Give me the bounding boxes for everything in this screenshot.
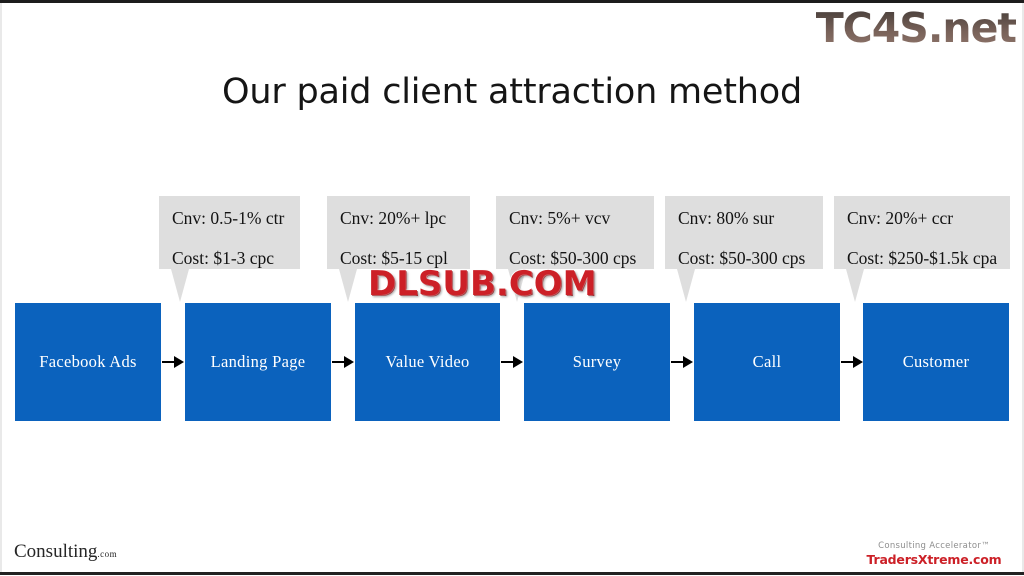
- slide-top-border: [0, 0, 1024, 3]
- callout-conversion-text: Cnv: 20%+ lpc: [340, 210, 470, 228]
- flow-step-3[interactable]: Value Video: [355, 303, 500, 421]
- consulting-accelerator-label: Consulting Accelerator™: [854, 541, 1014, 551]
- slide-bottom-border: [0, 572, 1024, 575]
- callout-cost-text: Cost: $50-300 cps: [678, 250, 823, 268]
- flow-arrow-1: [162, 356, 184, 368]
- flow-arrow-4: [671, 356, 693, 368]
- callout-1: Cnv: 0.5-1% ctrCost: $1-3 cpc: [159, 196, 300, 269]
- callout-tail-2: [339, 269, 357, 302]
- callout-cost-text: Cost: $250-$1.5k cpa: [847, 250, 1010, 268]
- flow-step-1[interactable]: Facebook Ads: [15, 303, 161, 421]
- callout-tail-5: [846, 269, 864, 302]
- watermark-tradersxtreme: Consulting Accelerator™ TradersXtreme.co…: [854, 541, 1014, 567]
- flow-step-4[interactable]: Survey: [524, 303, 670, 421]
- consulting-logo-name: Consulting: [14, 541, 97, 562]
- page-title: Our paid client attraction method: [0, 72, 1024, 112]
- arrow-head-icon: [344, 356, 354, 368]
- arrow-shaft: [162, 361, 174, 364]
- callout-tail-4: [677, 269, 695, 302]
- callout-conversion-text: Cnv: 5%+ vcv: [509, 210, 654, 228]
- callout-4: Cnv: 80% surCost: $50-300 cps: [665, 196, 823, 269]
- callout-conversion-text: Cnv: 80% sur: [678, 210, 823, 228]
- arrow-shaft: [671, 361, 683, 364]
- callout-5: Cnv: 20%+ ccrCost: $250-$1.5k cpa: [834, 196, 1010, 269]
- flow-arrow-3: [501, 356, 523, 368]
- flow-step-label: Value Video: [385, 352, 469, 372]
- flow-arrow-2: [332, 356, 354, 368]
- flow-arrow-5: [841, 356, 863, 368]
- watermark-dlsub: DLSUB.COM: [368, 264, 597, 304]
- flow-step-5[interactable]: Call: [694, 303, 840, 421]
- slide-canvas: Our paid client attraction method Cnv: 0…: [0, 0, 1024, 576]
- callout-cost-text: Cost: $1-3 cpc: [172, 250, 300, 268]
- arrow-head-icon: [853, 356, 863, 368]
- arrow-shaft: [501, 361, 513, 364]
- consulting-logo: Consulting.com: [14, 541, 117, 563]
- callout-3: Cnv: 5%+ vcvCost: $50-300 cps: [496, 196, 654, 269]
- flow-step-6[interactable]: Customer: [863, 303, 1009, 421]
- arrow-head-icon: [174, 356, 184, 368]
- flow-step-label: Facebook Ads: [39, 352, 137, 372]
- callout-conversion-text: Cnv: 0.5-1% ctr: [172, 210, 300, 228]
- consulting-logo-suffix: .com: [97, 549, 117, 559]
- flow-step-label: Customer: [903, 352, 970, 372]
- arrow-head-icon: [513, 356, 523, 368]
- watermark-tc4s: TC4S.net: [816, 4, 1016, 52]
- tradersxtreme-label: TradersXtreme.com: [854, 552, 1014, 567]
- flow-step-label: Landing Page: [211, 352, 306, 372]
- arrow-head-icon: [683, 356, 693, 368]
- callout-2: Cnv: 20%+ lpcCost: $5-15 cpl: [327, 196, 470, 269]
- arrow-shaft: [332, 361, 344, 364]
- flow-step-label: Survey: [573, 352, 622, 372]
- callout-tail-1: [171, 269, 189, 302]
- flow-step-2[interactable]: Landing Page: [185, 303, 331, 421]
- callout-conversion-text: Cnv: 20%+ ccr: [847, 210, 1010, 228]
- flow-step-label: Call: [753, 352, 782, 372]
- arrow-shaft: [841, 361, 853, 364]
